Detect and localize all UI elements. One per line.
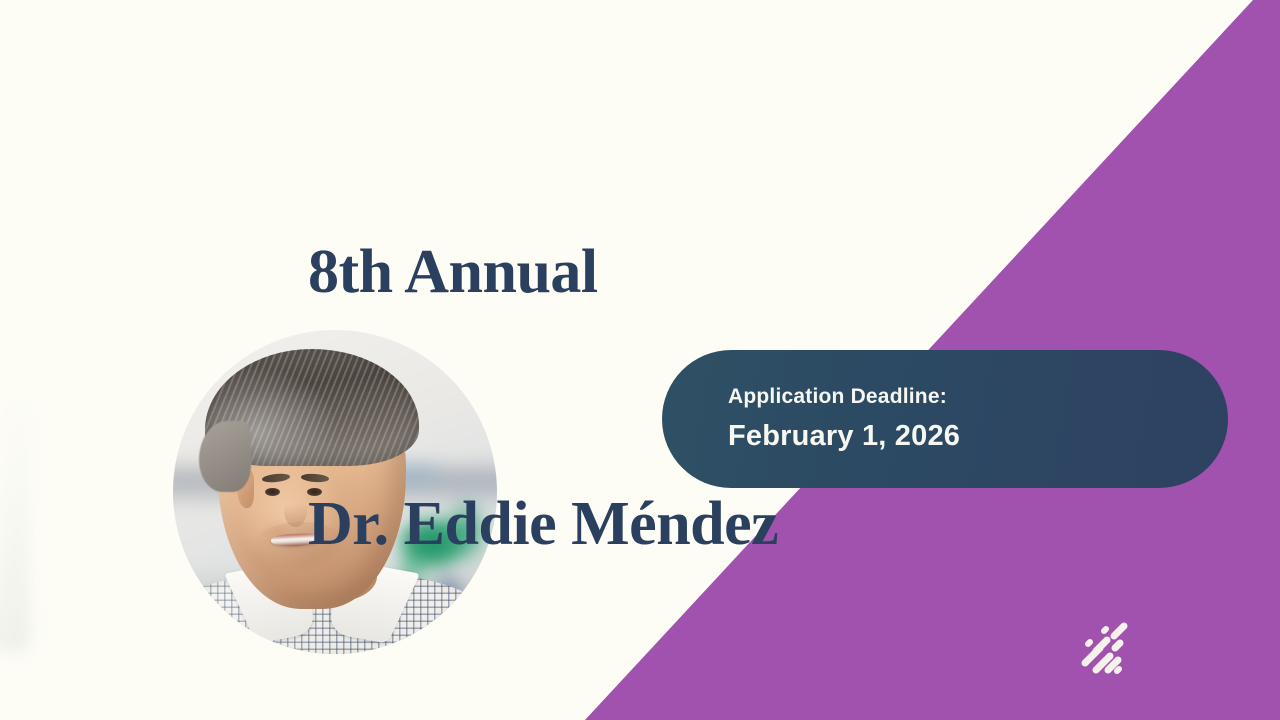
deadline-date: February 1, 2026 <box>728 420 1228 453</box>
title-line-2: Dr. Eddie Méndez <box>308 482 778 566</box>
application-deadline-badge: Application Deadline: February 1, 2026 <box>662 350 1228 488</box>
diagonal-dash-logo-icon <box>1074 622 1132 680</box>
promo-slide: 8th Annual Dr. Eddie Méndez Scholar Awar… <box>0 0 1280 720</box>
title-line-1: 8th Annual <box>308 230 778 314</box>
deadline-label: Application Deadline: <box>728 385 1228 409</box>
